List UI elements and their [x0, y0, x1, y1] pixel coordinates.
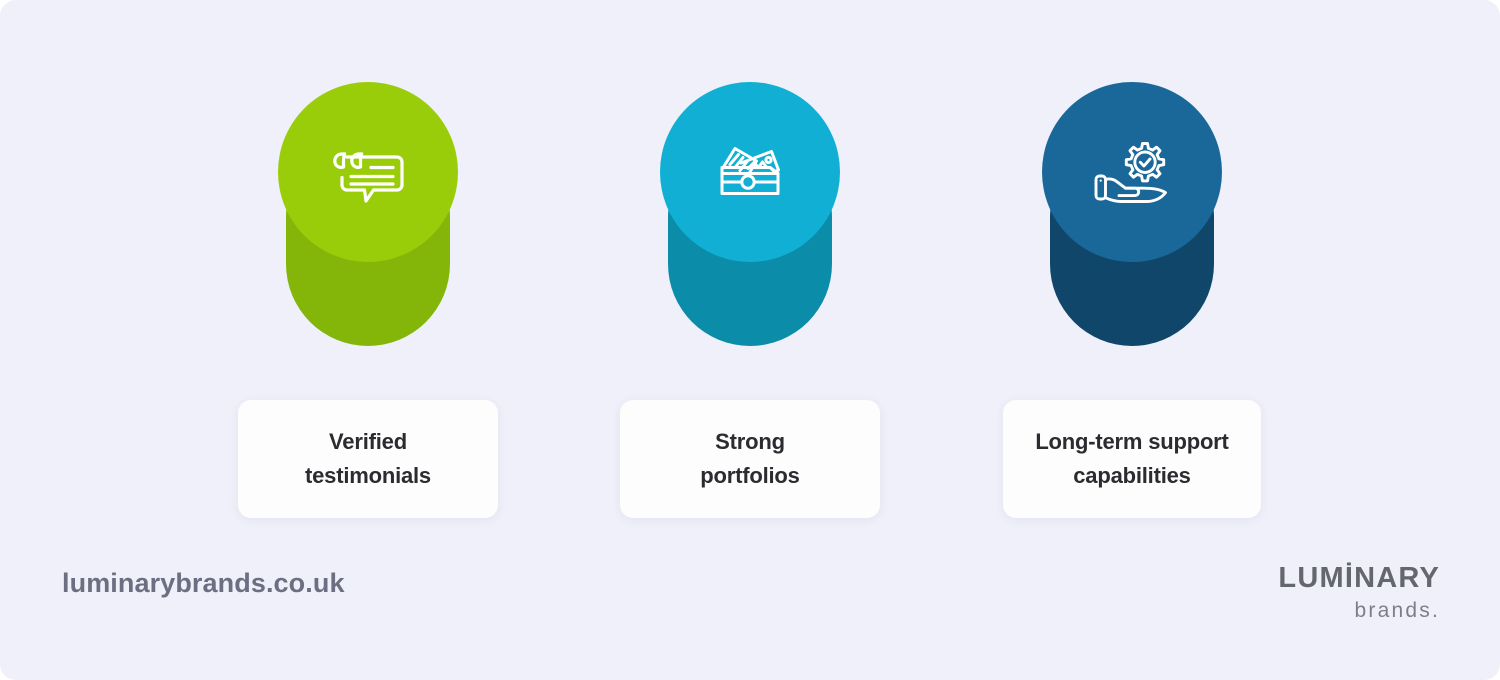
feature-label-line1: Strong	[715, 429, 785, 454]
feature-label-line2: portfolios	[700, 463, 799, 488]
infographic-canvas: Verified testimonials	[0, 0, 1500, 680]
logo-wordmark: LUMİNARY	[1278, 564, 1440, 593]
feature-column-long-term-support: Long-term support capabilities	[1002, 0, 1262, 518]
feature-label-line1: Verified	[329, 429, 407, 454]
feature-label-line2: testimonials	[305, 463, 431, 488]
feature-label: Verified testimonials	[305, 425, 431, 493]
feature-label: Strong portfolios	[700, 425, 799, 493]
feature-label-card[interactable]: Verified testimonials	[238, 400, 498, 518]
footer: luminarybrands.co.uk LUMİNARY brands.	[0, 530, 1500, 680]
capsule-verified-testimonials	[278, 82, 458, 352]
feature-column-strong-portfolios: Strong portfolios	[620, 0, 880, 518]
logo-subtext: brands.	[1278, 600, 1440, 621]
site-url[interactable]: luminarybrands.co.uk	[62, 568, 345, 599]
feature-label-line1: Long-term support	[1035, 429, 1228, 454]
feature-label-line2: capabilities	[1073, 463, 1190, 488]
feature-column-verified-testimonials: Verified testimonials	[238, 0, 498, 518]
capsule-long-term-support	[1042, 82, 1222, 352]
portfolio-case-icon	[660, 82, 840, 262]
feature-columns: Verified testimonials	[0, 0, 1500, 530]
feature-label: Long-term support capabilities	[1035, 425, 1228, 493]
quote-speech-bubble-icon	[278, 82, 458, 262]
capsule-strong-portfolios	[660, 82, 840, 352]
feature-label-card[interactable]: Long-term support capabilities	[1003, 400, 1261, 518]
feature-label-card[interactable]: Strong portfolios	[620, 400, 880, 518]
hand-gear-check-icon	[1042, 82, 1222, 262]
luminary-brands-logo[interactable]: LUMİNARY brands.	[1278, 564, 1440, 621]
